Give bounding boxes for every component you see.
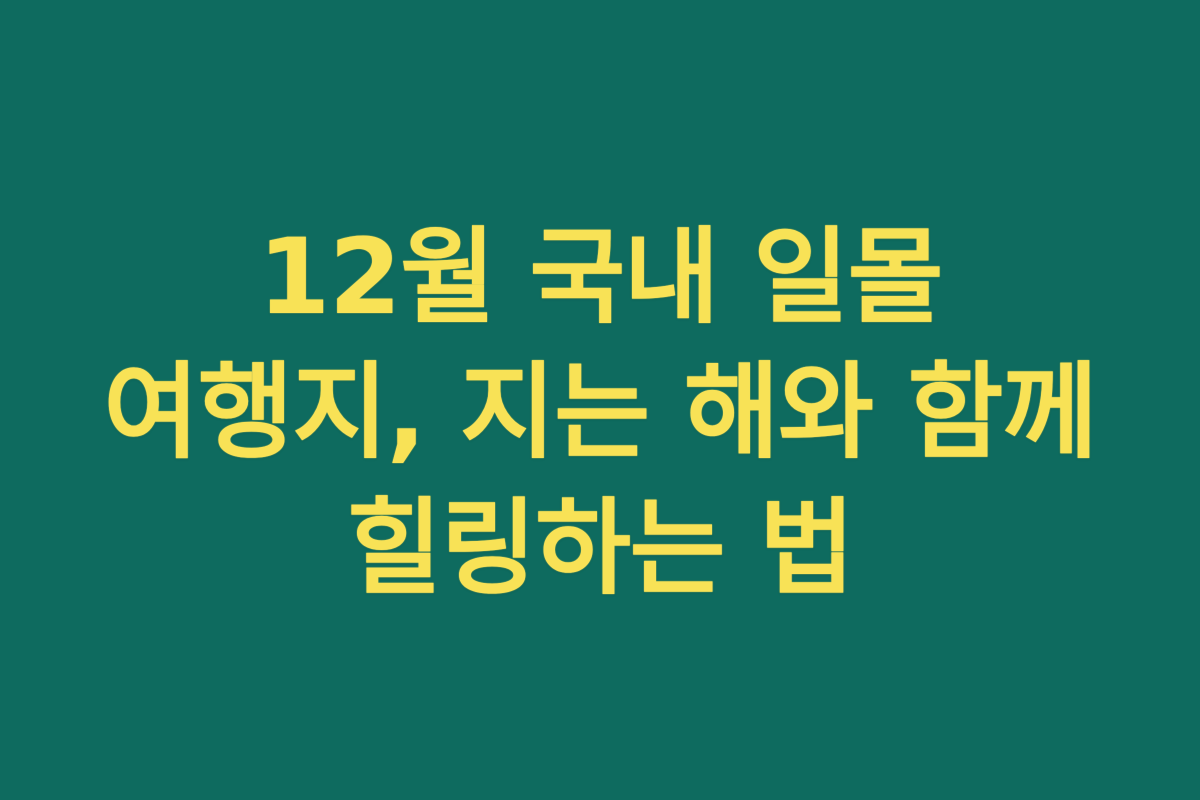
title-block: 12월 국내 일몰 여행지, 지는 해와 함께 힐링하는 법 [100, 184, 1100, 616]
page-title: 12월 국내 일몰 여행지, 지는 해와 함께 힐링하는 법 [100, 210, 1100, 616]
thumbnail-card: 12월 국내 일몰 여행지, 지는 해와 함께 힐링하는 법 [0, 0, 1200, 800]
